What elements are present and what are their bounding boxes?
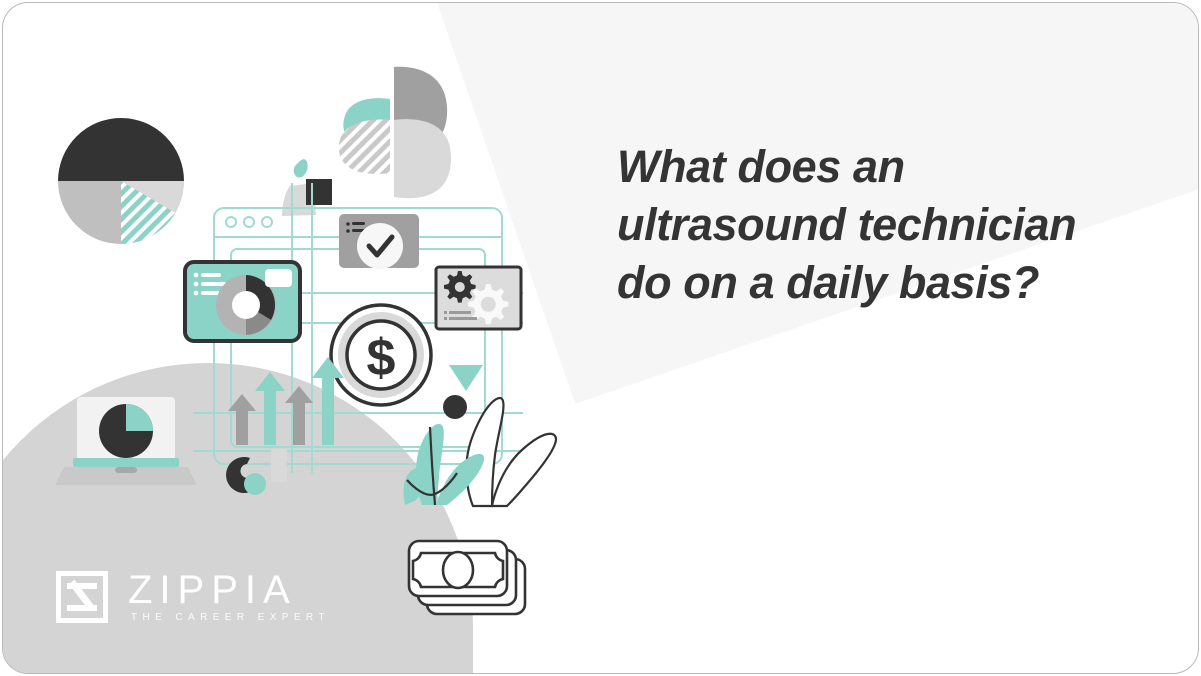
promo-card: $ <box>2 2 1199 674</box>
clover-petals-icon <box>339 67 451 198</box>
teal-triangle-icon <box>449 365 483 391</box>
logo-wordmark: ZIPPIA <box>128 569 330 611</box>
plant-leaves-icon <box>404 398 556 506</box>
gears-card <box>436 267 521 329</box>
banknotes-icon <box>409 541 525 614</box>
crescent-and-circle-icon <box>226 457 266 495</box>
pie-chart-icon <box>58 118 184 244</box>
dollar-coin-icon: $ <box>331 305 431 405</box>
checkmark-card <box>339 214 419 269</box>
svg-text:$: $ <box>367 329 396 387</box>
zippia-logo[interactable]: ZIPPIA THE CAREER EXPERT <box>56 569 330 625</box>
dark-dot-icon <box>443 395 467 419</box>
gray-bar-icon <box>271 449 287 482</box>
zippia-z-mark-icon <box>56 571 108 623</box>
growth-arrows-icon <box>228 357 344 445</box>
gear-dark-icon <box>444 271 476 303</box>
zippia-logo-text: ZIPPIA THE CAREER EXPERT <box>128 569 330 625</box>
browser-dots-icon <box>226 217 272 227</box>
logo-tagline: THE CAREER EXPERT <box>128 611 330 625</box>
donut-chart-card <box>185 262 300 341</box>
page-title: What does an ultrasound technician do on… <box>617 138 1117 312</box>
laptop-pie-icon <box>55 397 197 485</box>
